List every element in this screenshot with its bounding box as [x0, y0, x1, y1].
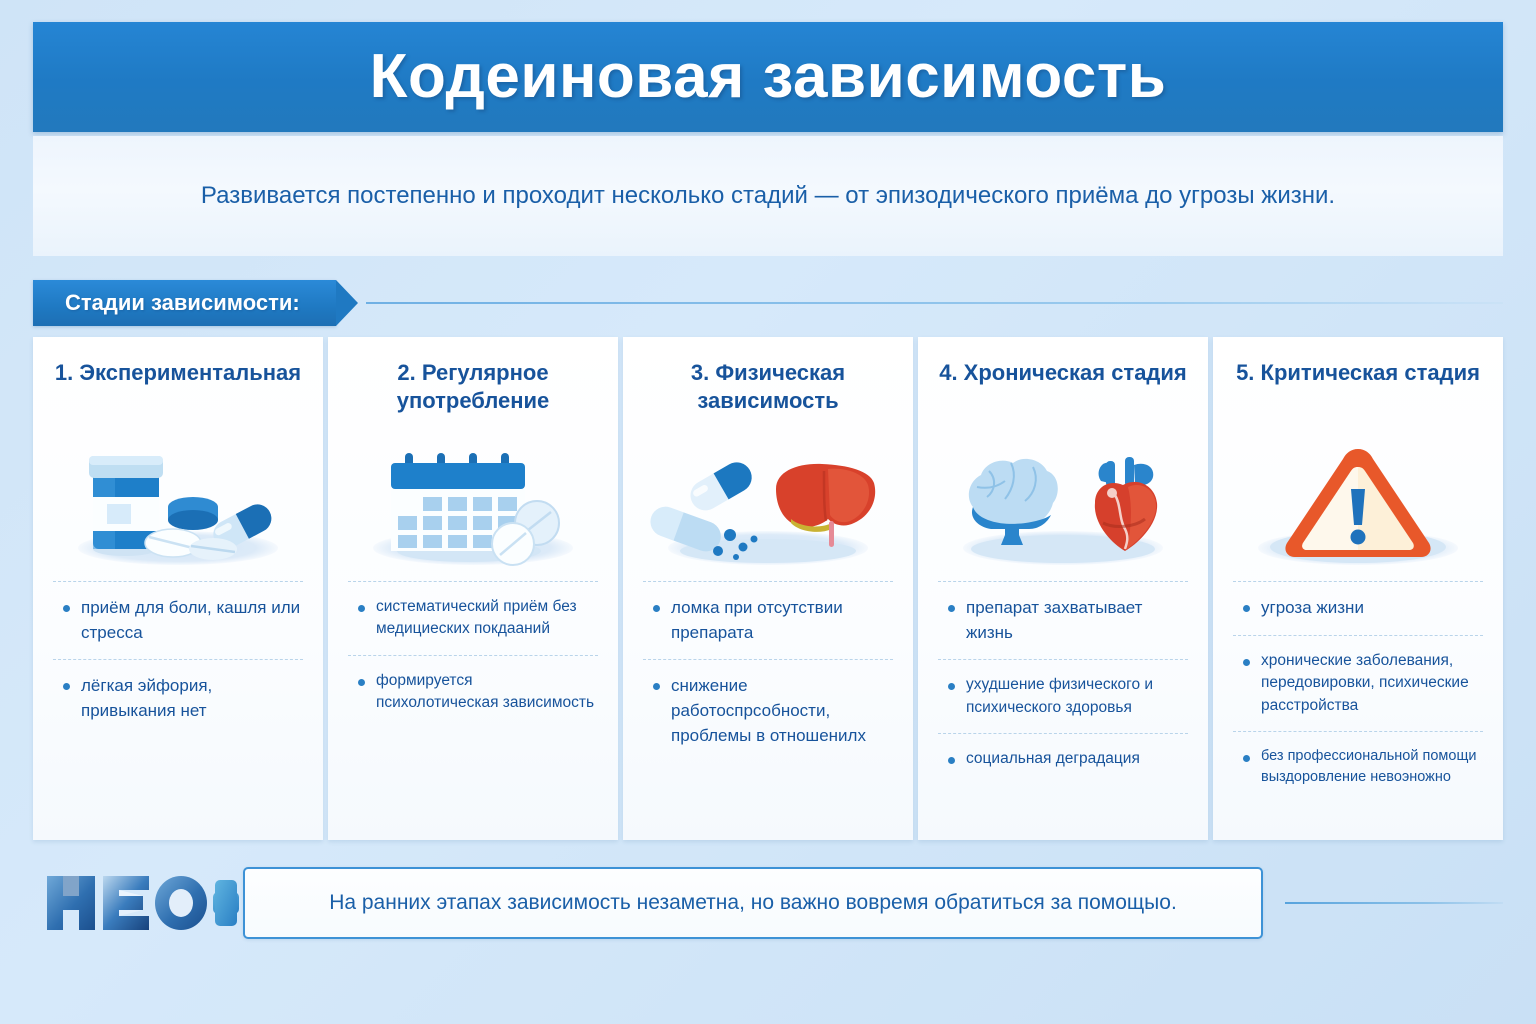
bullet-text: хронические заболевания, передовировки, … [1261, 650, 1483, 717]
ribbon-trailing-line [366, 302, 1503, 304]
ribbon-shape: Стадии зависимости: [33, 280, 336, 326]
bullet-text: ухудшение физического и психического здо… [966, 674, 1188, 719]
calendar-pills-icon [361, 431, 586, 571]
list-item: систематический приём без медициеских по… [348, 581, 598, 655]
list-item: формируется психолотическая зависимость [348, 655, 598, 729]
stage-bullet-list: ломка при отсутствии препарата снижение … [643, 581, 893, 824]
stage-illustration [938, 421, 1188, 571]
list-item: снижение работоспрсобности, проблемы в о… [643, 659, 893, 762]
neo-plus-logo-icon [41, 866, 241, 940]
warning-triangle-icon [1243, 431, 1473, 571]
stage-title: 1. Экспериментальная [53, 359, 303, 417]
list-item: лёгкая эйфория, привыкания нет [53, 659, 303, 737]
capsule-liver-icon [648, 431, 888, 571]
brand-logo [33, 866, 243, 940]
list-item: приём для боли, кашля или стресса [53, 581, 303, 659]
stages-ribbon: Стадии зависимости: [33, 280, 1503, 326]
footer: На ранних этапах зависимость незаметна, … [33, 858, 1503, 948]
bullet-dot-icon [1243, 755, 1250, 762]
bullet-dot-icon [358, 605, 365, 612]
stage-title: 3. Физическая зависимость [643, 359, 893, 417]
bullet-text: лёгкая эйфория, привыкания нет [81, 674, 303, 723]
stages-card-row: 1. Экспериментальная [33, 337, 1503, 840]
bullet-dot-icon [358, 679, 365, 686]
stage-title: 2. Регулярное употребление [348, 359, 598, 417]
header-bar: Кодеиновая зависимость [33, 22, 1503, 132]
bullet-dot-icon [948, 605, 955, 612]
bullet-dot-icon [653, 683, 660, 690]
bullet-dot-icon [1243, 659, 1250, 666]
stage-card-3[interactable]: 3. Физическая зависимость [623, 337, 913, 840]
bullet-dot-icon [653, 605, 660, 612]
stage-bullet-list: приём для боли, кашля или стресса лёгкая… [53, 581, 303, 824]
stage-card-1[interactable]: 1. Экспериментальная [33, 337, 323, 840]
list-item: препарат захватывает жизнь [938, 581, 1188, 659]
stage-bullet-list: препарат захватывает жизнь ухудшение физ… [938, 581, 1188, 824]
list-item: хронические заболевания, передовировки, … [1233, 635, 1483, 731]
stage-bullet-list: угроза жизни хронические заболевания, пе… [1233, 581, 1483, 824]
bullet-dot-icon [1243, 605, 1250, 612]
bullet-text: ломка при отсутствии препарата [671, 596, 893, 645]
stage-title: 4. Хроническая стадия [938, 359, 1188, 417]
brain-heart-icon [943, 431, 1183, 571]
bullet-text: приём для боли, кашля или стресса [81, 596, 303, 645]
bullet-text: препарат захватывает жизнь [966, 596, 1188, 645]
stage-title: 5. Критическая стадия [1233, 359, 1483, 417]
footer-note-text: На ранних этапах зависимость незаметна, … [329, 889, 1177, 916]
bullet-text: формируется психолотическая зависимость [376, 670, 598, 715]
pill-bottle-icon [63, 431, 293, 571]
bullet-text: без профессиональной помощи выздоровлени… [1261, 746, 1483, 788]
stage-card-5[interactable]: 5. Критическая стадия угроза жизни [1213, 337, 1503, 840]
stage-illustration [1233, 421, 1483, 571]
ribbon-label: Стадии зависимости: [65, 290, 300, 316]
list-item: без профессиональной помощи выздоровлени… [1233, 731, 1483, 802]
bullet-text: снижение работоспрсобности, проблемы в о… [671, 674, 893, 748]
bullet-text: систематический приём без медициеских по… [376, 596, 598, 641]
list-item: социальная деградация [938, 733, 1188, 784]
list-item: ухудшение физического и психического здо… [938, 659, 1188, 733]
footer-trailing-line [1285, 902, 1503, 904]
stage-bullet-list: систематический приём без медициеских по… [348, 581, 598, 824]
bullet-dot-icon [948, 757, 955, 764]
stage-illustration [348, 421, 598, 571]
page-title: Кодеиновая зависимость [370, 46, 1167, 108]
subtitle-band: Развивается постепенно и проходит нескол… [33, 136, 1503, 256]
bullet-text: угроза жизни [1261, 596, 1364, 621]
infographic-page: Кодеиновая зависимость Развивается посте… [0, 0, 1536, 1024]
footer-note-box: На ранних этапах зависимость незаметна, … [243, 867, 1263, 939]
stage-illustration [53, 421, 303, 571]
subtitle-text: Развивается постепенно и проходит нескол… [201, 179, 1335, 213]
bullet-dot-icon [63, 683, 70, 690]
bullet-dot-icon [63, 605, 70, 612]
stage-card-4[interactable]: 4. Хроническая стадия [918, 337, 1208, 840]
list-item: угроза жизни [1233, 581, 1483, 635]
bullet-dot-icon [948, 683, 955, 690]
stage-illustration [643, 421, 893, 571]
list-item: ломка при отсутствии препарата [643, 581, 893, 659]
stage-card-2[interactable]: 2. Регулярное употребление [328, 337, 618, 840]
bullet-text: социальная деградация [966, 748, 1140, 770]
